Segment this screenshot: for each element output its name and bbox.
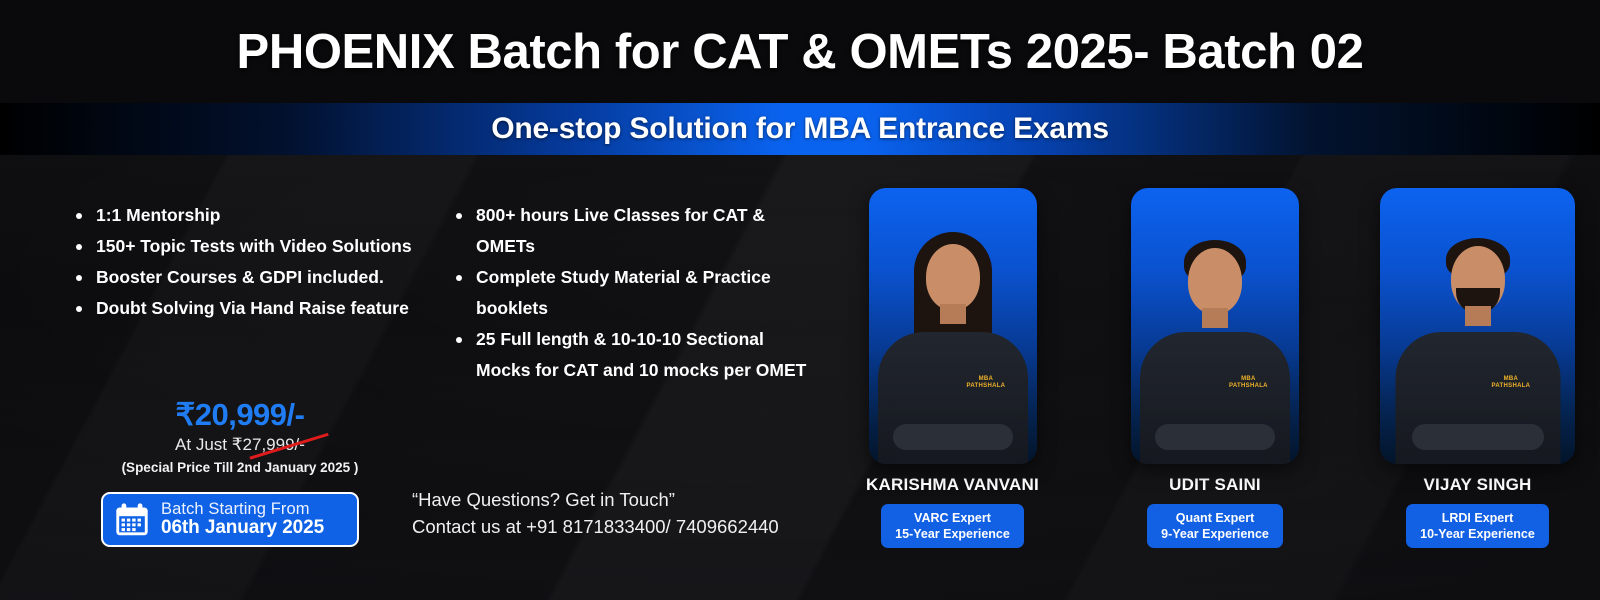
faculty-subject: VARC Expert (895, 510, 1010, 526)
faculty-expertise-badge: Quant Expert 9-Year Experience (1147, 504, 1283, 548)
faculty-photo: MBA PATHSHALA (1131, 188, 1299, 464)
arms-shape (1155, 424, 1275, 450)
head-shape (1188, 248, 1242, 314)
faculty-experience: 10-Year Experience (1420, 526, 1535, 542)
faculty-photo: MBA PATHSHALA (1380, 188, 1575, 464)
arms-shape (893, 424, 1013, 450)
faculty-name: KARISHMA VANVANI (866, 475, 1039, 495)
faculty-photo: MBA PATHSHALA (869, 188, 1037, 464)
head-shape (926, 244, 980, 310)
features-list-right: 800+ hours Live Classes for CAT & OMETs … (452, 200, 807, 386)
batch-start-badge[interactable]: Batch Starting From 06th January 2025 (101, 492, 359, 547)
list-item: 1:1 Mentorship (72, 200, 422, 231)
contact-block: “Have Questions? Get in Touch” Contact u… (412, 486, 779, 540)
faculty-card: MBA PATHSHALA KARISHMA VANVANI VARC Expe… (855, 188, 1050, 548)
faculty-name: UDIT SAINI (1169, 475, 1261, 495)
faculty-portrait: MBA PATHSHALA (1380, 188, 1575, 464)
faculty-card: MBA PATHSHALA UDIT SAINI Quant Expert 9-… (1118, 188, 1313, 548)
contact-phone[interactable]: Contact us at +91 8171833400/ 7409662440 (412, 513, 779, 540)
faculty-name: VIJAY SINGH (1423, 475, 1531, 495)
current-price: ₹20,999/- (95, 398, 385, 432)
neck-shape (1465, 306, 1491, 326)
page-title: PHOENIX Batch for CAT & OMETs 2025- Batc… (237, 24, 1364, 80)
batch-start-date: 06th January 2025 (161, 518, 324, 538)
list-item: 800+ hours Live Classes for CAT & OMETs (452, 200, 807, 262)
calendar-icon (113, 501, 151, 539)
features-list-left: 1:1 Mentorship 150+ Topic Tests with Vid… (72, 200, 422, 324)
shirt-logo: MBA PATHSHALA (967, 376, 1006, 390)
list-item: 150+ Topic Tests with Video Solutions (72, 231, 422, 262)
subtitle-band: One-stop Solution for MBA Entrance Exams (0, 103, 1600, 155)
faculty-portrait: MBA PATHSHALA (1131, 188, 1299, 464)
batch-badge-text: Batch Starting From 06th January 2025 (161, 501, 324, 538)
old-price-row: At Just ₹27,999/- (175, 433, 305, 457)
faculty-portrait: MBA PATHSHALA (869, 188, 1037, 464)
list-item: 25 Full length & 10-10-10 Sectional Mock… (452, 324, 807, 386)
pricing-block: ₹20,999/- At Just ₹27,999/- (Special Pri… (95, 398, 385, 478)
shirt-logo: MBA PATHSHALA (1229, 376, 1268, 390)
shirt-logo: MBA PATHSHALA (1492, 376, 1531, 390)
old-price: ₹27,999/- (232, 435, 305, 454)
faculty-experience: 15-Year Experience (895, 526, 1010, 542)
faculty-subject: LRDI Expert (1420, 510, 1535, 526)
arms-shape (1412, 424, 1544, 450)
faculty-expertise-badge: LRDI Expert 10-Year Experience (1406, 504, 1549, 548)
faculty-card: MBA PATHSHALA VIJAY SINGH LRDI Expert 10… (1380, 188, 1575, 548)
list-item: Booster Courses & GDPI included. (72, 262, 422, 293)
title-bar: PHOENIX Batch for CAT & OMETs 2025- Batc… (0, 0, 1600, 103)
promo-banner: PHOENIX Batch for CAT & OMETs 2025- Batc… (0, 0, 1600, 600)
special-price-note: (Special Price Till 2nd January 2025 ) (95, 458, 385, 478)
page-subtitle: One-stop Solution for MBA Entrance Exams (491, 112, 1109, 146)
faculty-experience: 9-Year Experience (1161, 526, 1269, 542)
faculty-row: MBA PATHSHALA KARISHMA VANVANI VARC Expe… (855, 188, 1575, 548)
old-price-prefix: At Just (175, 435, 232, 454)
faculty-subject: Quant Expert (1161, 510, 1269, 526)
neck-shape (940, 304, 966, 324)
list-item: Complete Study Material & Practice bookl… (452, 262, 807, 324)
list-item: Doubt Solving Via Hand Raise feature (72, 293, 422, 324)
neck-shape (1202, 308, 1228, 328)
batch-start-label: Batch Starting From (161, 501, 324, 518)
faculty-expertise-badge: VARC Expert 15-Year Experience (881, 504, 1024, 548)
contact-question: “Have Questions? Get in Touch” (412, 486, 779, 513)
